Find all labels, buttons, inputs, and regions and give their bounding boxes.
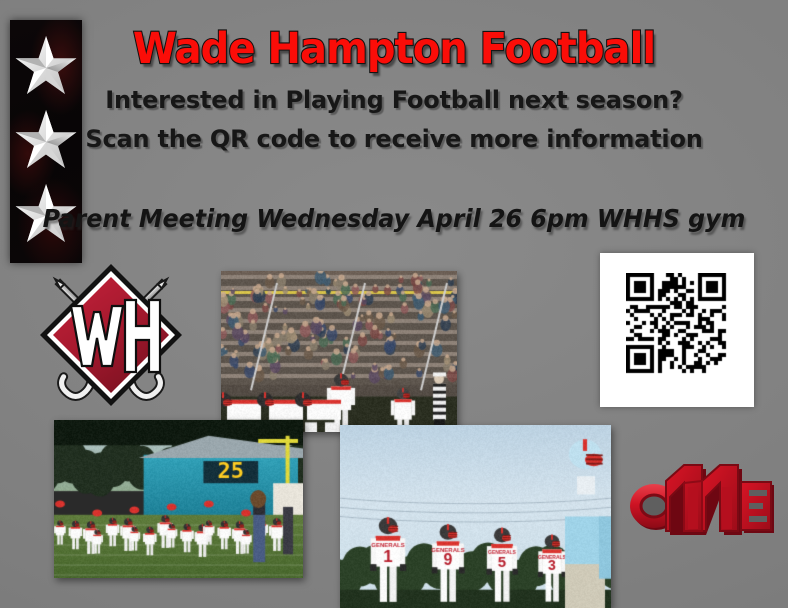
poster-canvas: Wade Hampton Football Interested in Play… xyxy=(0,0,788,608)
meeting-details: Parent Meeting Wednesday April 26 6pm WH… xyxy=(20,204,769,233)
photo-canvas xyxy=(221,271,457,432)
subtitle-line-2: Scan the QR code to receive more informa… xyxy=(0,125,788,153)
photo-canvas xyxy=(54,420,303,578)
qr-code-icon[interactable] xyxy=(626,273,728,375)
wade-hampton-diamond-logo xyxy=(32,256,190,414)
qr-code-panel[interactable] xyxy=(600,253,754,407)
page-title: Wade Hampton Football xyxy=(28,24,761,74)
photo-line-of-scrimmage xyxy=(221,271,457,432)
letter-e xyxy=(741,482,774,533)
photo-canvas xyxy=(340,425,611,608)
photo-team-entering-field xyxy=(54,420,303,578)
subtitle-line-1: Interested in Playing Football next seas… xyxy=(0,86,788,114)
one-eleven-logo xyxy=(626,463,776,539)
photo-team-captains xyxy=(340,425,611,608)
